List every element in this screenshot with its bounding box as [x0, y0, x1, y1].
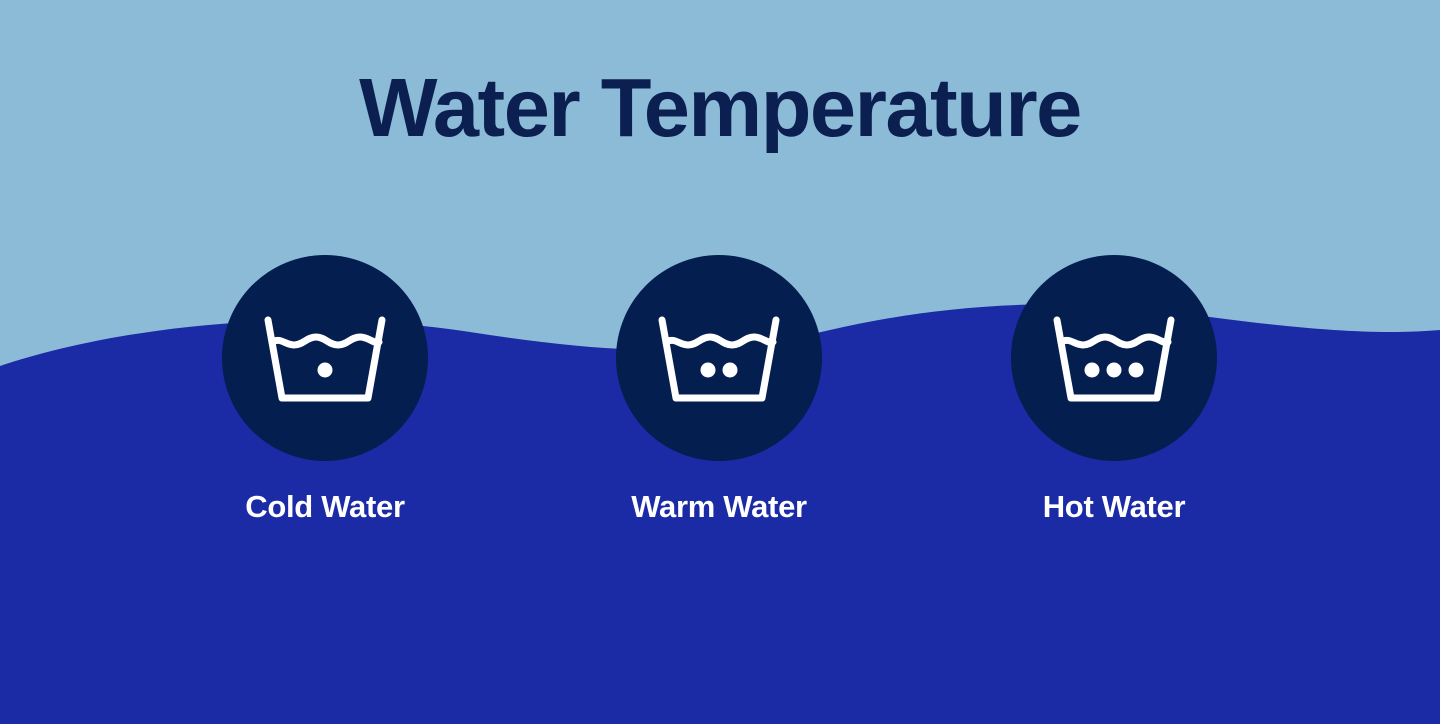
temperature-options-list: Cold Water Warm Water [0, 255, 1440, 555]
option-label-cold-water: Cold Water [175, 489, 475, 525]
badge-warm-water [616, 255, 822, 461]
badge-hot-water [1011, 255, 1217, 461]
wash-tub-three-dots-icon [1049, 308, 1179, 408]
option-hot-water[interactable]: Hot Water [964, 255, 1264, 525]
wash-tub-two-dots-icon [654, 308, 784, 408]
option-warm-water[interactable]: Warm Water [569, 255, 869, 525]
badge-cold-water [222, 255, 428, 461]
wash-tub-one-dot-icon [260, 308, 390, 408]
option-cold-water[interactable]: Cold Water [175, 255, 475, 525]
page-title: Water Temperature [0, 62, 1440, 153]
option-label-hot-water: Hot Water [964, 489, 1264, 525]
infographic-canvas: Water Temperature Cold Water [0, 0, 1440, 724]
option-label-warm-water: Warm Water [569, 489, 869, 525]
